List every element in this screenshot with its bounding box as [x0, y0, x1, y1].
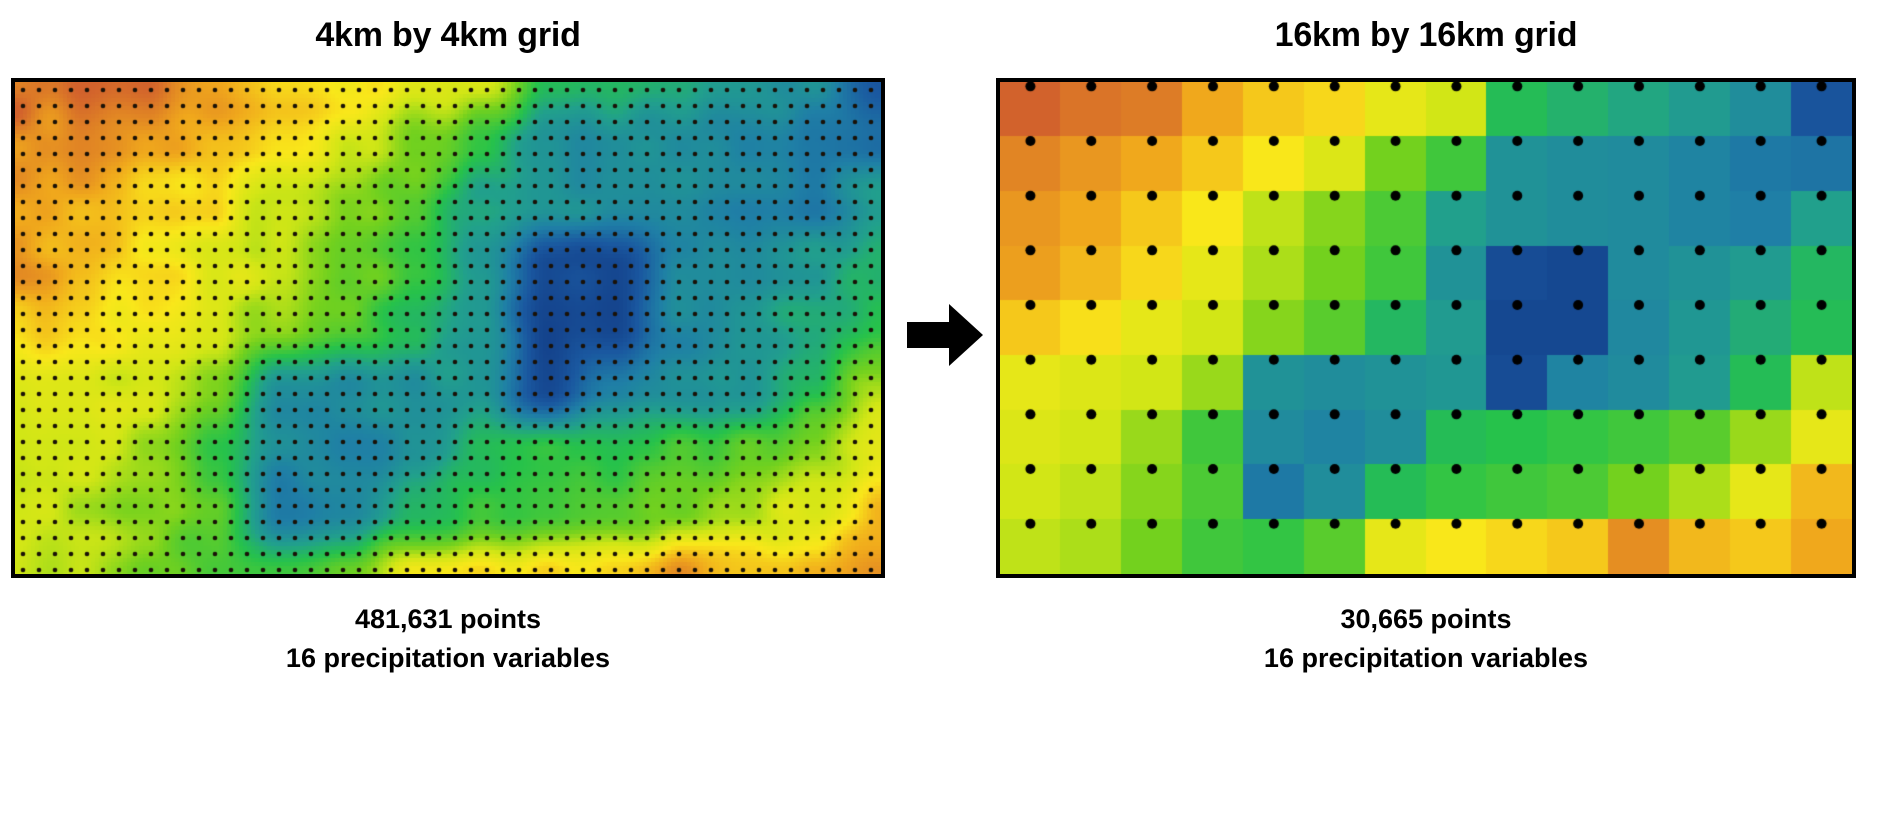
panel-left-caption: 481,631 points 16 precipitation variable…: [11, 600, 885, 678]
panel-left-variables: 16 precipitation variables: [11, 639, 885, 678]
heatmap-canvas-fine: [15, 82, 881, 574]
panel-left-title: 4km by 4km grid: [11, 18, 885, 52]
transforms-to-arrow-icon: [905, 300, 985, 370]
panel-left-points: 481,631 points: [11, 600, 885, 639]
panel-left-heatmap: [11, 78, 885, 578]
heatmap-canvas-coarse: [1000, 82, 1852, 574]
panel-right-variables: 16 precipitation variables: [996, 639, 1856, 678]
figure-root: 4km by 4km grid 481,631 points 16 precip…: [0, 0, 1888, 832]
panel-right-caption: 30,665 points 16 precipitation variables: [996, 600, 1856, 678]
panel-right-points: 30,665 points: [996, 600, 1856, 639]
panel-right-heatmap: [996, 78, 1856, 578]
panel-right-title: 16km by 16km grid: [996, 18, 1856, 52]
